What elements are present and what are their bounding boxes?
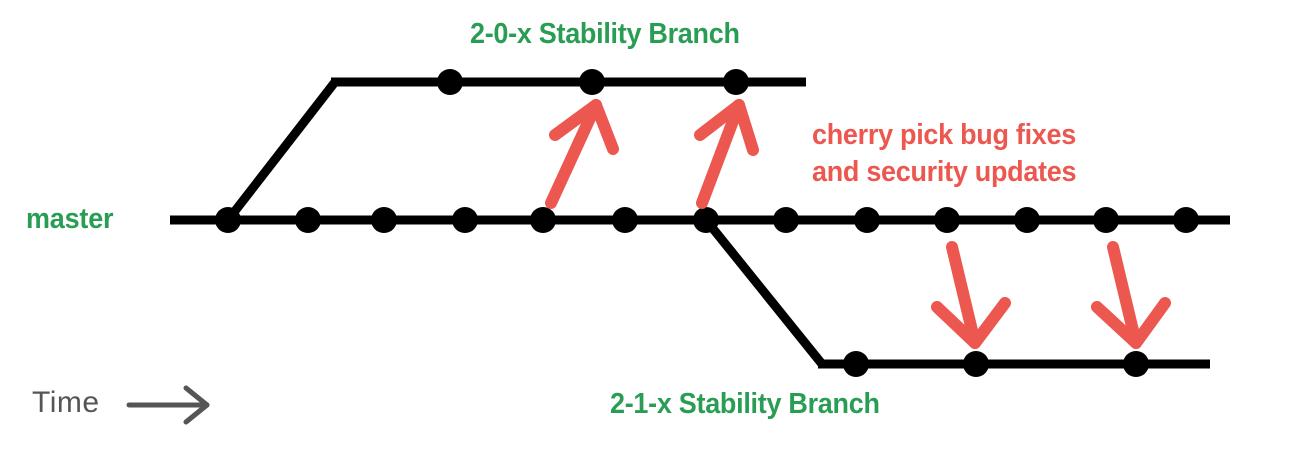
bottom-branch-title: 2-1-x Stability Branch: [610, 388, 880, 421]
cherry-pick-annotation-line2: and security updates: [812, 155, 1076, 190]
commit-node[interactable]: [295, 207, 321, 233]
fork-line-to-2-1-x: [706, 220, 822, 364]
top-branch-title: 2-0-x Stability Branch: [470, 18, 740, 51]
time-axis-label: Time: [32, 386, 100, 420]
commit-node[interactable]: [963, 351, 989, 377]
commit-node[interactable]: [612, 207, 638, 233]
commit-node[interactable]: [452, 207, 478, 233]
commit-node[interactable]: [371, 207, 397, 233]
commit-node[interactable]: [579, 69, 605, 95]
commit-node[interactable]: [1014, 207, 1040, 233]
commit-node[interactable]: [530, 207, 556, 233]
cherry-pick-annotation-line1: cherry pick bug fixes: [812, 118, 1076, 153]
fork-line-to-2-0-x: [228, 82, 335, 220]
commit-node[interactable]: [854, 207, 880, 233]
commit-node[interactable]: [723, 69, 749, 95]
commit-node[interactable]: [693, 207, 719, 233]
master-branch-label: master: [26, 203, 113, 236]
cherry-pick-arrow-up-icon: [700, 105, 753, 203]
cherry-pick-arrow-down-icon: [1097, 247, 1165, 343]
cherry-pick-arrow-down-icon: [937, 247, 1005, 343]
commit-node[interactable]: [437, 69, 463, 95]
commit-node[interactable]: [1093, 207, 1119, 233]
commit-node[interactable]: [773, 207, 799, 233]
git-branching-diagram: 2-0-x Stability Branch master cherry pic…: [0, 0, 1310, 456]
commit-node[interactable]: [934, 207, 960, 233]
commit-node[interactable]: [215, 207, 241, 233]
commit-node[interactable]: [1123, 351, 1149, 377]
cherry-pick-arrow-up-icon: [551, 105, 613, 203]
time-axis-arrow-icon: [129, 388, 207, 422]
commit-node[interactable]: [1173, 207, 1199, 233]
commit-node[interactable]: [843, 351, 869, 377]
